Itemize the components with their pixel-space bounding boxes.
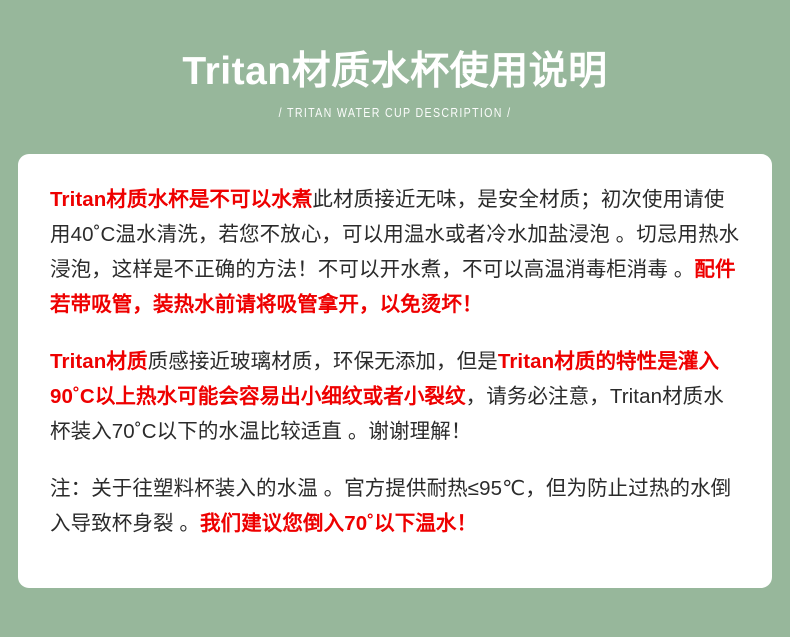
highlighted-text-0: Tritan材质 (50, 350, 148, 373)
body-text-1: 质感接近玻璃材质，环保无添加，但是 (148, 350, 498, 373)
page-title: Tritan材质水杯使用说明 (0, 48, 790, 96)
paragraph-3: 注：关于往塑料杯装入的水温 。官方提供耐热≤95℃，但为防止过热的水倒入导致杯身… (50, 471, 742, 541)
paragraph-2: Tritan材质质感接近玻璃材质，环保无添加，但是Tritan材质的特性是灌入9… (50, 344, 742, 449)
page-header: Tritan材质水杯使用说明 / TRITAN WATER CUP DESCRI… (0, 0, 790, 122)
paragraph-1: Tritan材质水杯是不可以水煮此材质接近无味，是安全材质；初次使用请使用40˚… (50, 182, 742, 322)
page-subtitle: / TRITAN WATER CUP DESCRIPTION / (71, 104, 719, 122)
highlighted-text-0: Tritan材质水杯是不可以水煮 (50, 188, 312, 211)
description-card: Tritan材质水杯是不可以水煮此材质接近无味，是安全材质；初次使用请使用40˚… (18, 154, 772, 588)
highlighted-text-1: 我们建议您倒入70˚以下温水！ (200, 512, 477, 535)
